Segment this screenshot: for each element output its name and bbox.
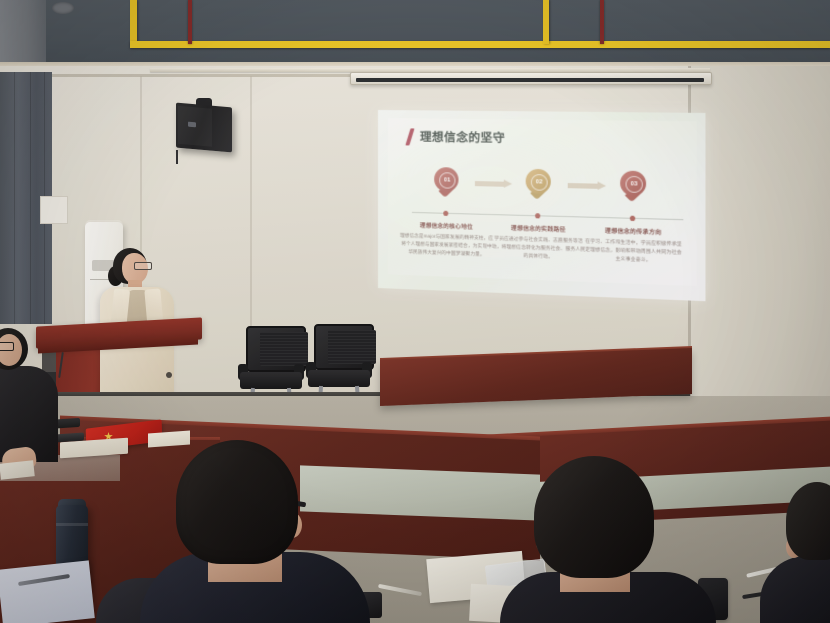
ceiling xyxy=(0,0,830,66)
thermos-ring xyxy=(56,523,88,526)
center-table-glass-inlay xyxy=(300,465,540,520)
chair-seat xyxy=(308,370,370,387)
pin-number-2: 02 xyxy=(536,179,543,185)
presenter-coat-button xyxy=(166,372,172,378)
red-pipe-2 xyxy=(600,0,604,44)
column-body-1: 理想信念是major与国家发展的精神支柱，应将个人理想与国家发展紧密结合，为实现… xyxy=(400,232,494,259)
column-heading-2: 理想信念的实践路径 xyxy=(490,223,587,234)
column-body-2: 学员应通过参与社会实践、志愿服务等活动，将理想信念转化为服务社会、服务人民的具体… xyxy=(490,234,587,262)
column-heading-1: 理想信念的核心地位 xyxy=(400,221,494,232)
projected-slide: 理想信念的坚守 01 02 03 xyxy=(378,110,705,301)
audience-center-hair xyxy=(176,440,298,564)
slide-column-1: 理想信念的核心地位 理想信念是major与国家发展的精神支柱，应将个人理想与国家… xyxy=(400,221,494,259)
slide-pin-1: 01 xyxy=(434,167,458,198)
slide-column-3: 理想信念的传承方向 在学习、工作和生活中，学员应积极传承坚定理想信念，影响和带动… xyxy=(584,226,684,266)
chair-mesh xyxy=(328,330,376,364)
slide-arrow-1 xyxy=(475,179,512,189)
speaker-cable xyxy=(176,150,178,164)
column-heading-3: 理想信念的传承方向 xyxy=(584,226,684,237)
audience-right-hair xyxy=(534,456,654,578)
desk-papers-left-2[interactable] xyxy=(148,431,190,448)
wall-rail-left xyxy=(0,74,360,77)
arrow-shaft-2 xyxy=(568,183,598,189)
slide-title: 理想信念的坚守 xyxy=(420,129,505,146)
ceiling-vent-icon xyxy=(52,2,74,14)
arrow-head-2 xyxy=(598,182,607,190)
slide-pin-2: 02 xyxy=(526,169,551,200)
slide-inner-panel: 理想信念的坚守 01 02 03 xyxy=(388,118,697,286)
wall-speaker-icon xyxy=(176,103,232,153)
slide-column-2: 理想信念的实践路径 学员应通过参与社会实践、志愿服务等活动，将理想信念转化为服务… xyxy=(490,223,587,262)
pin-ring-2: 02 xyxy=(531,174,548,191)
timeline-dot-2 xyxy=(535,213,540,218)
yellow-pipe-vertical xyxy=(130,0,137,46)
presenter-glasses xyxy=(134,262,152,270)
pin-ring-1: 01 xyxy=(439,172,455,189)
projection-screen-slot xyxy=(356,78,704,82)
timeline-dot-1 xyxy=(443,210,448,215)
pin-number-1: 01 xyxy=(444,177,451,183)
pin-ring-3: 03 xyxy=(626,176,643,193)
audience-left-glasses xyxy=(0,342,14,351)
curtain-fold-2 xyxy=(30,72,31,324)
slide-timeline xyxy=(412,212,683,220)
column-body-3: 在学习、工作和生活中，学员应积极传承坚定理想信念，影响和带动周围人共同为社会主义… xyxy=(584,237,684,265)
arrow-shaft-1 xyxy=(475,181,504,187)
right-wall xyxy=(690,66,830,396)
slide-pin-3: 03 xyxy=(620,171,646,203)
yellow-pipe-horizontal xyxy=(130,41,830,48)
pin-number-3: 03 xyxy=(631,181,638,187)
ceiling-left-column xyxy=(0,0,46,66)
red-pipe-1 xyxy=(188,0,192,44)
slide-accent-stroke xyxy=(405,128,414,145)
speaker-label xyxy=(188,122,196,128)
chair-mesh xyxy=(260,332,308,366)
timeline-dot-3 xyxy=(630,215,635,220)
classroom-scene: 理想信念的坚守 01 02 03 xyxy=(0,0,830,623)
notebook[interactable] xyxy=(0,560,95,623)
slide-arrow-2 xyxy=(568,181,606,191)
curtain-fold-1 xyxy=(14,72,15,324)
chair-seat xyxy=(240,372,302,389)
wall-box xyxy=(40,196,68,224)
arrow-head-1 xyxy=(504,180,512,188)
yellow-pipe-vertical-2 xyxy=(543,0,549,44)
